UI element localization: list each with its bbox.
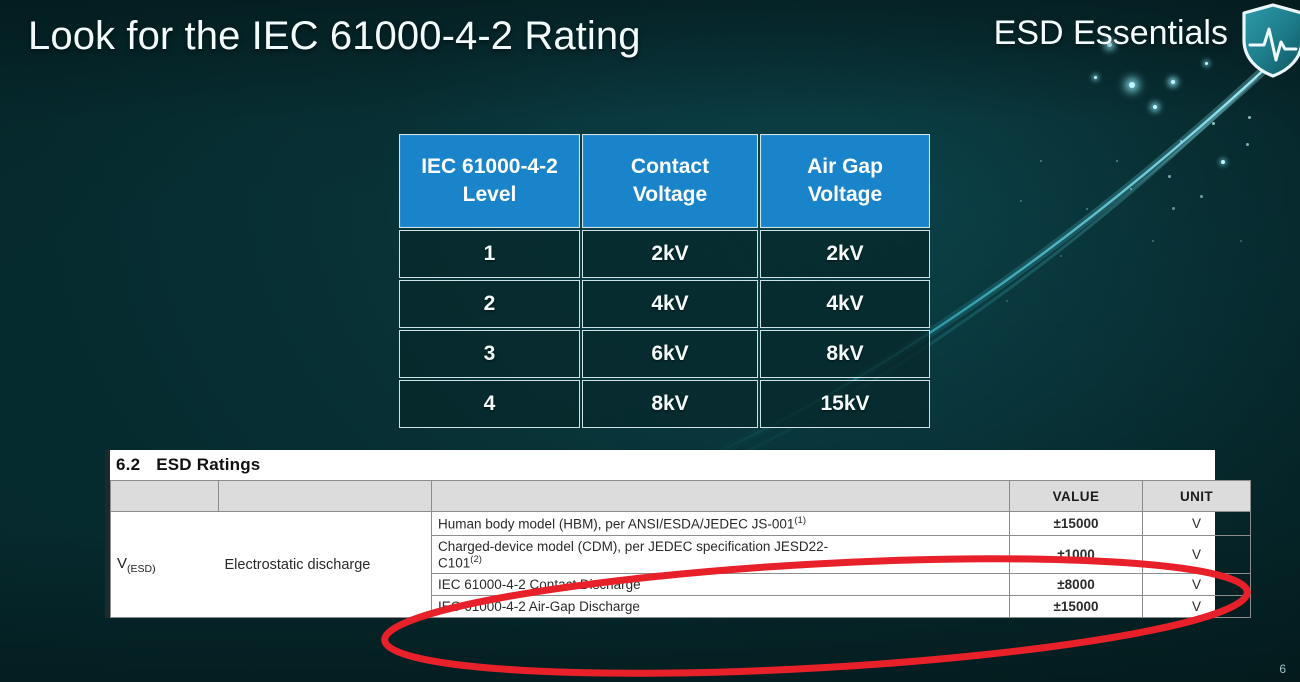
table-row: 2 4kV 4kV	[399, 280, 930, 328]
condition-text: Human body model (HBM), per ANSI/ESDA/JE…	[438, 517, 794, 532]
header-airgap-line1: Air Gap	[807, 155, 883, 178]
cell-unit: V	[1143, 535, 1251, 574]
cell-airgap: 15kV	[760, 380, 930, 428]
iec-level-table: IEC 61000-4-2 Level Contact Voltage Air …	[397, 132, 932, 430]
header-iec-level-line2: Level	[463, 183, 517, 206]
cell-value: ±1000	[1010, 535, 1143, 574]
header-contact-line2: Voltage	[633, 183, 707, 206]
datasheet-section-title: 6.2ESD Ratings	[110, 450, 1215, 480]
datasheet-excerpt: 6.2ESD Ratings VALUE UNIT V(ESD) Electro…	[105, 450, 1215, 618]
header-contact-line1: Contact	[631, 155, 709, 178]
table-row: V(ESD) Electrostatic discharge Human bod…	[111, 512, 1251, 536]
header-parameter	[219, 481, 432, 512]
cell-contact: 2kV	[582, 230, 758, 278]
table-row: 4 8kV 15kV	[399, 380, 930, 428]
datasheet-header-row: VALUE UNIT	[111, 481, 1251, 512]
header-iec-level-line1: IEC 61000-4-2	[421, 155, 558, 178]
table-row: 1 2kV 2kV	[399, 230, 930, 278]
table-row: 3 6kV 8kV	[399, 330, 930, 378]
condition-footnote: (1)	[794, 515, 806, 526]
cell-value: ±15000	[1010, 512, 1143, 536]
header-iec-level: IEC 61000-4-2 Level	[399, 134, 580, 228]
header-unit: UNIT	[1143, 481, 1251, 512]
symbol-subscript: (ESD)	[127, 563, 156, 575]
cell-condition: Human body model (HBM), per ANSI/ESDA/JE…	[432, 512, 1010, 536]
cell-level: 1	[399, 230, 580, 278]
brand-label: ESD Essentials	[994, 14, 1228, 53]
header-airgap-line2: Voltage	[808, 183, 882, 206]
cell-level: 4	[399, 380, 580, 428]
cell-symbol-vesd: V(ESD)	[111, 512, 219, 618]
cell-parameter: Electrostatic discharge	[219, 512, 432, 618]
header-contact-voltage: Contact Voltage	[582, 134, 758, 228]
header-airgap-voltage: Air Gap Voltage	[760, 134, 930, 228]
cell-unit: V	[1143, 512, 1251, 536]
shield-pulse-icon	[1240, 2, 1300, 80]
header-symbol	[111, 481, 219, 512]
page-number: 6	[1279, 662, 1286, 676]
section-number: 6.2	[116, 455, 140, 474]
section-title-text: ESD Ratings	[156, 455, 260, 474]
cell-airgap: 8kV	[760, 330, 930, 378]
cell-condition: IEC 61000-4-2 Contact Discharge	[432, 574, 1010, 596]
cell-unit: V	[1143, 596, 1251, 618]
cell-level: 3	[399, 330, 580, 378]
slide-title: Look for the IEC 61000-4-2 Rating	[28, 14, 641, 59]
header-value: VALUE	[1010, 481, 1143, 512]
condition-text-line2: C101	[438, 555, 470, 570]
cell-contact: 8kV	[582, 380, 758, 428]
header-condition	[432, 481, 1010, 512]
esd-ratings-table: VALUE UNIT V(ESD) Electrostatic discharg…	[110, 480, 1251, 618]
cell-contact: 6kV	[582, 330, 758, 378]
presentation-slide: Look for the IEC 61000-4-2 Rating ESD Es…	[0, 0, 1300, 682]
condition-text: Charged-device model (CDM), per JEDEC sp…	[438, 539, 828, 554]
cell-contact: 4kV	[582, 280, 758, 328]
cell-condition: IEC 61000-4-2 Air-Gap Discharge	[432, 596, 1010, 618]
symbol-v: V	[117, 555, 127, 572]
level-table-header-row: IEC 61000-4-2 Level Contact Voltage Air …	[399, 134, 930, 228]
condition-footnote: (2)	[470, 554, 482, 565]
cell-level: 2	[399, 280, 580, 328]
cell-condition: Charged-device model (CDM), per JEDEC sp…	[432, 535, 1010, 574]
cell-airgap: 4kV	[760, 280, 930, 328]
cell-value: ±15000	[1010, 596, 1143, 618]
cell-value: ±8000	[1010, 574, 1143, 596]
cell-airgap: 2kV	[760, 230, 930, 278]
cell-unit: V	[1143, 574, 1251, 596]
